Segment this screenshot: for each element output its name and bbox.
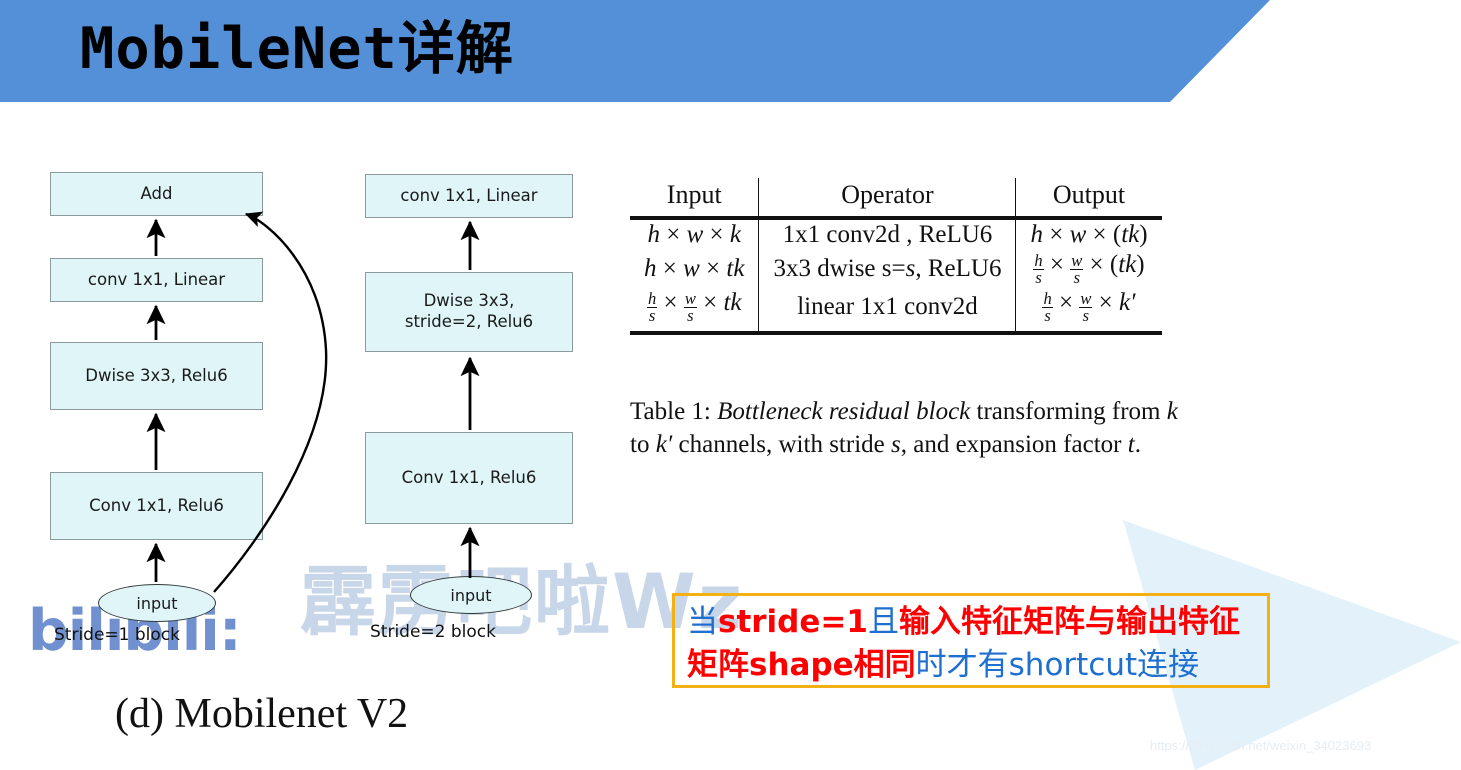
cell-input-1: h × w × k	[630, 218, 759, 250]
cell-operator-2: 3x3 dwise s=s, ReLU6	[759, 250, 1016, 288]
figure-caption: (d) Mobilenet V2	[115, 690, 408, 738]
table-row: hs × ws × tk linear 1x1 conv2d hs × ws ×…	[630, 288, 1162, 333]
stride2-arrows	[340, 0, 640, 680]
cell-operator-3: linear 1x1 conv2d	[759, 288, 1016, 333]
cell-input-3: hs × ws × tk	[630, 288, 759, 333]
table-header-row: Input Operator Output	[630, 178, 1162, 218]
note-seg: stride=1	[718, 604, 868, 640]
note-seg: 连接	[1137, 647, 1199, 683]
cell-output-3: hs × ws × k′	[1016, 288, 1162, 333]
note-seg: shape	[749, 647, 854, 683]
stride1-arrows	[0, 0, 340, 680]
note-seg: 且	[868, 604, 899, 640]
note-seg: 输入特征矩阵与输出特征	[899, 604, 1240, 640]
shortcut-note-box: 当stride=1且输入特征矩阵与输出特征 矩阵shape相同时才有shortc…	[672, 593, 1270, 688]
table-body: h × w × k 1x1 conv2d , ReLU6 h × w × (tk…	[630, 218, 1162, 333]
table-row: h × w × tk 3x3 dwise s=s, ReLU6 hs × ws …	[630, 250, 1162, 288]
url-watermark: https://blog.csdn.net/weixin_34023693	[1150, 738, 1371, 753]
note-seg: shortcut	[1009, 647, 1138, 683]
stride1-block-diagram: Add conv 1x1, Linear Dwise 3x3, Relu6 Co…	[0, 0, 340, 680]
table-caption: Table 1: Bottleneck residual block trans…	[630, 395, 1230, 462]
col-header-output: Output	[1016, 178, 1162, 218]
note-seg: 当	[687, 604, 718, 640]
cell-input-2: h × w × tk	[630, 250, 759, 288]
col-header-operator: Operator	[759, 178, 1016, 218]
table-caption-rest: transforming from k	[977, 398, 1178, 425]
table-caption-italic: Bottleneck residual block	[717, 398, 970, 425]
table-head: Input Operator Output	[630, 178, 1162, 218]
table-caption-line2: to k′ channels, with stride s, and expan…	[630, 431, 1141, 458]
bottleneck-table: Input Operator Output h × w × k 1x1 conv…	[630, 178, 1162, 335]
table-row: h × w × k 1x1 conv2d , ReLU6 h × w × (tk…	[630, 218, 1162, 250]
stride2-block-diagram: conv 1x1, Linear Dwise 3x3, stride=2, Re…	[340, 0, 640, 680]
cell-output-1: h × w × (tk)	[1016, 218, 1162, 250]
col-header-input: Input	[630, 178, 759, 218]
note-line-2: 矩阵shape相同时才有shortcut连接	[687, 644, 1255, 687]
note-seg: 矩阵	[687, 647, 749, 683]
note-seg: 时才有	[916, 647, 1009, 683]
note-line-1: 当stride=1且输入特征矩阵与输出特征	[687, 601, 1255, 644]
slide-canvas: MobileNet详解 霹雳吧啦Wz bilibili: https://blo…	[0, 0, 1461, 770]
table-caption-prefix: Table 1:	[630, 398, 711, 425]
cell-output-2: hs × ws × (tk)	[1016, 250, 1162, 288]
cell-operator-1: 1x1 conv2d , ReLU6	[759, 218, 1016, 250]
note-seg: 相同	[854, 647, 916, 683]
